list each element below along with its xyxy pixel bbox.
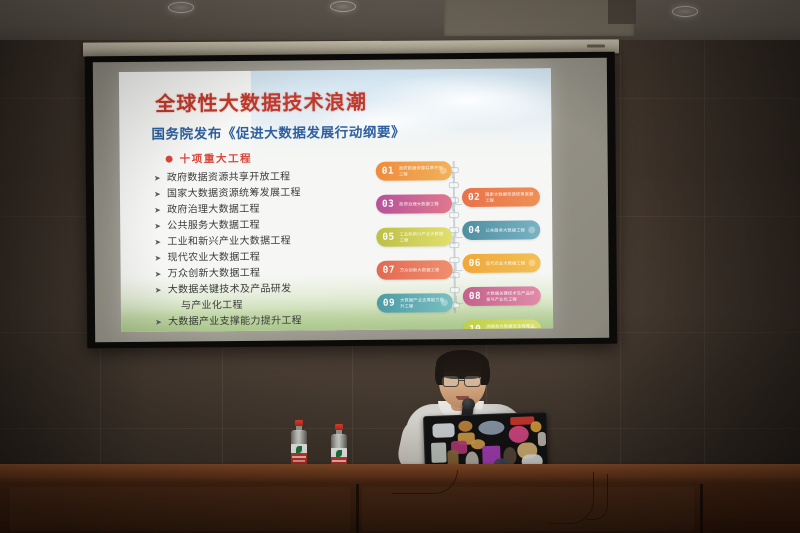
pill-label: 万众创新大数据工程 (400, 267, 440, 273)
bullet-arrow-icon: ➤ (154, 172, 162, 185)
bullet-dot-icon (166, 156, 173, 163)
slide-bullet-text: 政府治理大数据工程 (167, 203, 260, 217)
screen-surface: 全球性大数据技术浪潮 国务院发布《促进大数据发展行动纲要》 十项重大工程 ➤政府… (93, 58, 609, 342)
bottle-cap (295, 420, 303, 426)
bullet-arrow-icon: ➤ (154, 204, 162, 217)
pill-badge-icon (529, 259, 536, 266)
slide-bullet-list: ➤政府数据资源共享开放工程➤国家大数据资源统筹发展工程➤政府治理大数据工程➤公共… (154, 170, 386, 332)
pill-badge-icon (440, 167, 447, 174)
bullet-arrow-icon: ➤ (155, 316, 163, 329)
slide-timeline-diagram: 01政府数据资源共享开放工程02国家大数据资源统筹发展工程03政府治理大数据工程… (370, 160, 547, 314)
ceiling-light-icon (672, 6, 698, 17)
bullet-arrow-icon: ➤ (154, 236, 162, 249)
ceiling-vent (608, 0, 636, 24)
pill-number: 02 (468, 192, 480, 203)
timeline-connector (452, 236, 455, 244)
glasses-icon (464, 376, 481, 387)
pill-label: 政府治理大数据工程 (399, 201, 439, 207)
bullet-arrow-icon: ➤ (154, 188, 162, 201)
pill-badge-icon (441, 299, 448, 306)
bottle-neck (296, 426, 302, 431)
brand-logo (587, 44, 605, 47)
laptop-sticker (432, 423, 454, 438)
slide-bullet-text: 政府数据资源共享开放工程 (167, 171, 291, 186)
slide-bullet-text: 网络和大数据安全保障工程 (168, 331, 292, 332)
timeline-pill-04: 04公共服务大数据工程 (462, 220, 540, 240)
laptop-sticker (530, 421, 541, 432)
ceiling-light-icon (168, 2, 194, 13)
glasses-icon (442, 376, 459, 387)
slide-bullet-item: 与产业化工程 (155, 298, 385, 314)
slide-bullet-item: ➤大数据产业支撑能力提升工程 (155, 314, 385, 330)
timeline-connector (453, 269, 456, 277)
slide-bullet-text: 工业和新兴产业大数据工程 (167, 235, 291, 250)
timeline-pill-01: 01政府数据资源共享开放工程 (376, 161, 452, 181)
projection-screen: 全球性大数据技术浪潮 国务院发布《促进大数据发展行动纲要》 十项重大工程 ➤政府… (85, 52, 618, 349)
slide-section-heading: 十项重大工程 (166, 151, 253, 167)
bottle-logo-icon (296, 446, 302, 453)
timeline-pill-03: 03政府治理大数据工程 (376, 194, 452, 214)
laptop-sticker (431, 442, 447, 463)
bottle-logo-icon (336, 450, 342, 457)
bottle-neck (336, 430, 342, 435)
pill-number: 08 (469, 291, 481, 302)
slide-bullet-item: ➤政府治理大数据工程 (154, 202, 384, 218)
pill-number: 07 (383, 265, 395, 276)
glasses-bridge (459, 380, 464, 381)
bullet-arrow-icon: ➤ (154, 252, 162, 265)
timeline-pill-05: 05工业和新兴产业大数据工程 (376, 227, 452, 247)
slide-title: 全球性大数据技术浪潮 (155, 86, 367, 117)
presentation-slide: 全球性大数据技术浪潮 国务院发布《促进大数据发展行动纲要》 十项重大工程 ➤政府… (119, 68, 553, 332)
timeline-connector (452, 203, 455, 211)
slide-bullet-text: 国家大数据资源统筹发展工程 (167, 186, 301, 201)
slide-bullet-item: ➤工业和新兴产业大数据工程 (154, 234, 384, 250)
pill-label: 网络和大数据安全保障工程 (486, 324, 535, 332)
timeline-pill-07: 07万众创新大数据工程 (377, 260, 453, 280)
pill-label: 公共服务大数据工程 (485, 227, 525, 233)
presenter-hair-right (481, 361, 490, 385)
slide-bullet-text: 与产业化工程 (181, 299, 243, 313)
pill-label: 大数据关键技术及产品研发与产业化工程 (486, 291, 535, 302)
timeline-tick (449, 182, 459, 188)
timeline-tick (450, 287, 460, 293)
slide-bullet-text: 大数据关键技术及产品研发 (168, 283, 292, 298)
pill-number: 06 (469, 258, 481, 269)
timeline-connector (455, 230, 462, 238)
slide-bullet-item: ➤政府数据资源共享开放工程 (154, 170, 384, 186)
timeline-pill-10: 10网络和大数据安全保障工程 (463, 319, 541, 332)
bullet-arrow-icon: ➤ (155, 268, 163, 281)
slide-bullet-text: 现代农业大数据工程 (167, 251, 260, 265)
bottle-label-text (332, 460, 346, 462)
timeline-pill-09: 09大数据产业支撑能力提升工程 (377, 293, 453, 313)
slide-bullet-item: ➤网络和大数据安全保障工程 (155, 330, 385, 332)
pill-label: 国家大数据资源统筹发展工程 (485, 192, 534, 203)
pill-badge-icon (528, 226, 535, 233)
pill-number: 10 (469, 324, 481, 332)
slide-bullet-item: ➤万众创新大数据工程 (155, 266, 385, 282)
laptop-sticker (538, 432, 546, 446)
timeline-connector (453, 302, 456, 310)
bottle-label-text (292, 456, 306, 458)
timeline-connector (456, 296, 463, 304)
timeline-connector (456, 329, 463, 332)
slide-bullet-text: 万众创新大数据工程 (168, 267, 261, 281)
slide-bullet-text: 大数据产业支撑能力提升工程 (168, 314, 302, 329)
timeline-connector (452, 170, 455, 178)
bottle-cap (335, 424, 343, 430)
bullet-arrow-icon: ➤ (154, 220, 162, 233)
pill-number: 05 (382, 232, 394, 243)
slide-subtitle: 国务院发布《促进大数据发展行动纲要》 (151, 121, 405, 143)
laptop-sticker (458, 420, 472, 431)
timeline-pill-08: 08大数据关键技术及产品研发与产业化工程 (463, 286, 541, 306)
slide-bullet-item: ➤现代农业大数据工程 (154, 250, 384, 266)
slide-bullet-item: ➤公共服务大数据工程 (154, 218, 384, 234)
laptop-sticker (508, 426, 529, 444)
lecture-hall-photo: 全球性大数据技术浪潮 国务院发布《促进大数据发展行动纲要》 十项重大工程 ➤政府… (0, 0, 800, 533)
timeline-connector (455, 197, 462, 205)
pill-number: 01 (382, 166, 394, 177)
ceiling-light-icon (330, 1, 356, 12)
timeline-pill-02: 02国家大数据资源统筹发展工程 (462, 187, 540, 207)
pill-badge-icon (529, 325, 536, 332)
pill-label: 工业和新兴产业大数据工程 (400, 231, 447, 242)
timeline-pill-group: 01政府数据资源共享开放工程02国家大数据资源统筹发展工程03政府治理大数据工程… (370, 160, 546, 162)
cable (586, 474, 608, 520)
pill-number: 04 (468, 225, 480, 236)
section-heading-label: 十项重大工程 (180, 151, 253, 167)
bullet-arrow-icon: ➤ (155, 284, 163, 297)
timeline-tick (449, 212, 459, 218)
pill-label: 现代农业大数据工程 (486, 260, 526, 266)
bottle-label-subtext (293, 460, 305, 462)
slide-bullet-text: 公共服务大数据工程 (167, 219, 260, 233)
ceiling-panel (444, 0, 634, 36)
laptop-sticker (478, 420, 504, 435)
slide-bullet-item: ➤大数据关键技术及产品研发 (155, 282, 385, 298)
pill-number: 03 (382, 199, 394, 210)
slide-bullet-item: ➤国家大数据资源统筹发展工程 (154, 186, 384, 202)
timeline-pill-06: 06现代农业大数据工程 (462, 253, 540, 273)
pill-number: 09 (383, 298, 395, 309)
timeline-connector (456, 263, 463, 271)
